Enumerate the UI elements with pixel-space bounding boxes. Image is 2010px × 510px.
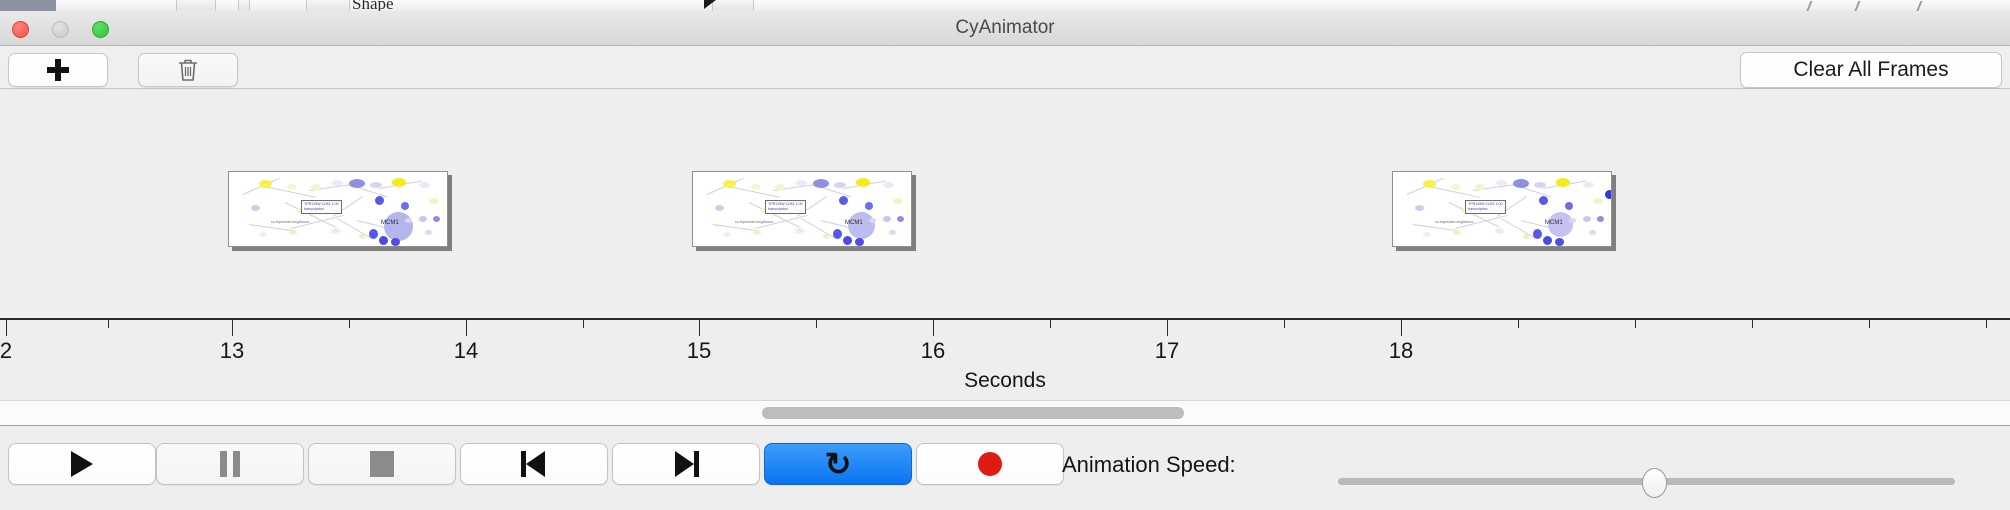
background-segment: [712, 0, 754, 11]
ruler-label: 14: [454, 338, 478, 364]
ruler-tick: [933, 320, 934, 336]
toolbar: Clear All Frames: [0, 46, 2010, 89]
ruler-tick: [1635, 320, 1636, 328]
background-segment: [176, 0, 216, 11]
network-thumbnail: YPR119W CLB2 1.00transcription MCM1 co-e…: [229, 172, 447, 246]
add-frame-button[interactable]: [8, 53, 108, 87]
network-thumbnail: YPR119W CLB2 1.00transcription MCM1 co-e…: [1393, 172, 1611, 246]
background-segment: [306, 0, 350, 11]
ruler-tick: [816, 320, 817, 328]
timeline-frame[interactable]: YPR119W CLB2 1.00transcription MCM1 co-e…: [228, 171, 448, 247]
ruler-label: 18: [1389, 338, 1413, 364]
loop-button[interactable]: ↻: [764, 443, 912, 485]
ruler-tick: [349, 320, 350, 328]
ruler-tick: [1869, 320, 1870, 328]
skip-next-button[interactable]: [612, 443, 760, 485]
cyanimator-window: Shape CyAnimator Clear All Frames: [0, 0, 2010, 510]
timeline-frame[interactable]: YPR119W CLB2 1.00transcription MCM1 co-e…: [692, 171, 912, 247]
ruler-tick: [1401, 320, 1402, 336]
window-title: CyAnimator: [0, 17, 2010, 39]
skip-previous-button[interactable]: [460, 443, 608, 485]
scrollbar-thumb[interactable]: [762, 407, 1184, 419]
timeline-frame[interactable]: YPR119W CLB2 1.00transcription MCM1 co-e…: [1392, 171, 1612, 247]
ruler-tick: [108, 320, 109, 328]
background-segment: [238, 0, 250, 11]
ruler-tick: [1518, 320, 1519, 328]
record-icon: [978, 452, 1002, 476]
play-icon: [71, 451, 93, 477]
pause-button[interactable]: [156, 443, 304, 485]
animation-speed-label: Animation Speed:: [1062, 452, 1236, 478]
trash-icon: [176, 57, 200, 83]
animation-speed-slider-thumb[interactable]: [1642, 468, 1667, 498]
ruler-tick: [1167, 320, 1168, 336]
skip-next-icon: [673, 451, 699, 477]
stop-button[interactable]: [308, 443, 456, 485]
ruler-label: 15: [687, 338, 711, 364]
play-button[interactable]: [8, 443, 156, 485]
ruler-label: 13: [220, 338, 244, 364]
ruler-tick: [466, 320, 467, 336]
timeline-panel[interactable]: YPR119W CLB2 1.00transcription MCM1 co-e…: [0, 89, 2010, 319]
ruler-tick: [1284, 320, 1285, 328]
timeline-ruler[interactable]: 2 13 14 15 16 17 18 Seconds: [0, 318, 2010, 398]
timeline-scrollbar[interactable]: [0, 400, 2010, 426]
plus-icon: [47, 59, 69, 81]
title-bar: CyAnimator: [0, 11, 2010, 46]
ruler-label: 16: [921, 338, 945, 364]
skip-previous-icon: [521, 451, 547, 477]
ruler-tick: [6, 320, 7, 336]
ruler-label: 2: [0, 338, 12, 364]
ruler-tick: [1050, 320, 1051, 328]
ruler-tick: [699, 320, 700, 336]
background-tab-active: [0, 0, 56, 11]
ruler-label: 17: [1155, 338, 1179, 364]
ruler-tick: [232, 320, 233, 336]
ruler-tick: [1752, 320, 1753, 328]
ruler-axis-title: Seconds: [0, 369, 2010, 393]
stop-icon: [370, 451, 394, 477]
delete-frame-button[interactable]: [138, 53, 238, 87]
loop-icon: ↻: [825, 450, 852, 478]
transport-bar: ↻ Animation Speed:: [0, 425, 2010, 510]
record-button[interactable]: [916, 443, 1064, 485]
clear-all-frames-button[interactable]: Clear All Frames: [1740, 52, 2002, 88]
pause-icon: [220, 451, 240, 477]
ruler-tick: [1986, 320, 1987, 328]
ruler-baseline: [0, 318, 2010, 320]
network-thumbnail: YPR119W CLB2 1.00transcription MCM1 co-e…: [693, 172, 911, 246]
ruler-tick: [583, 320, 584, 328]
